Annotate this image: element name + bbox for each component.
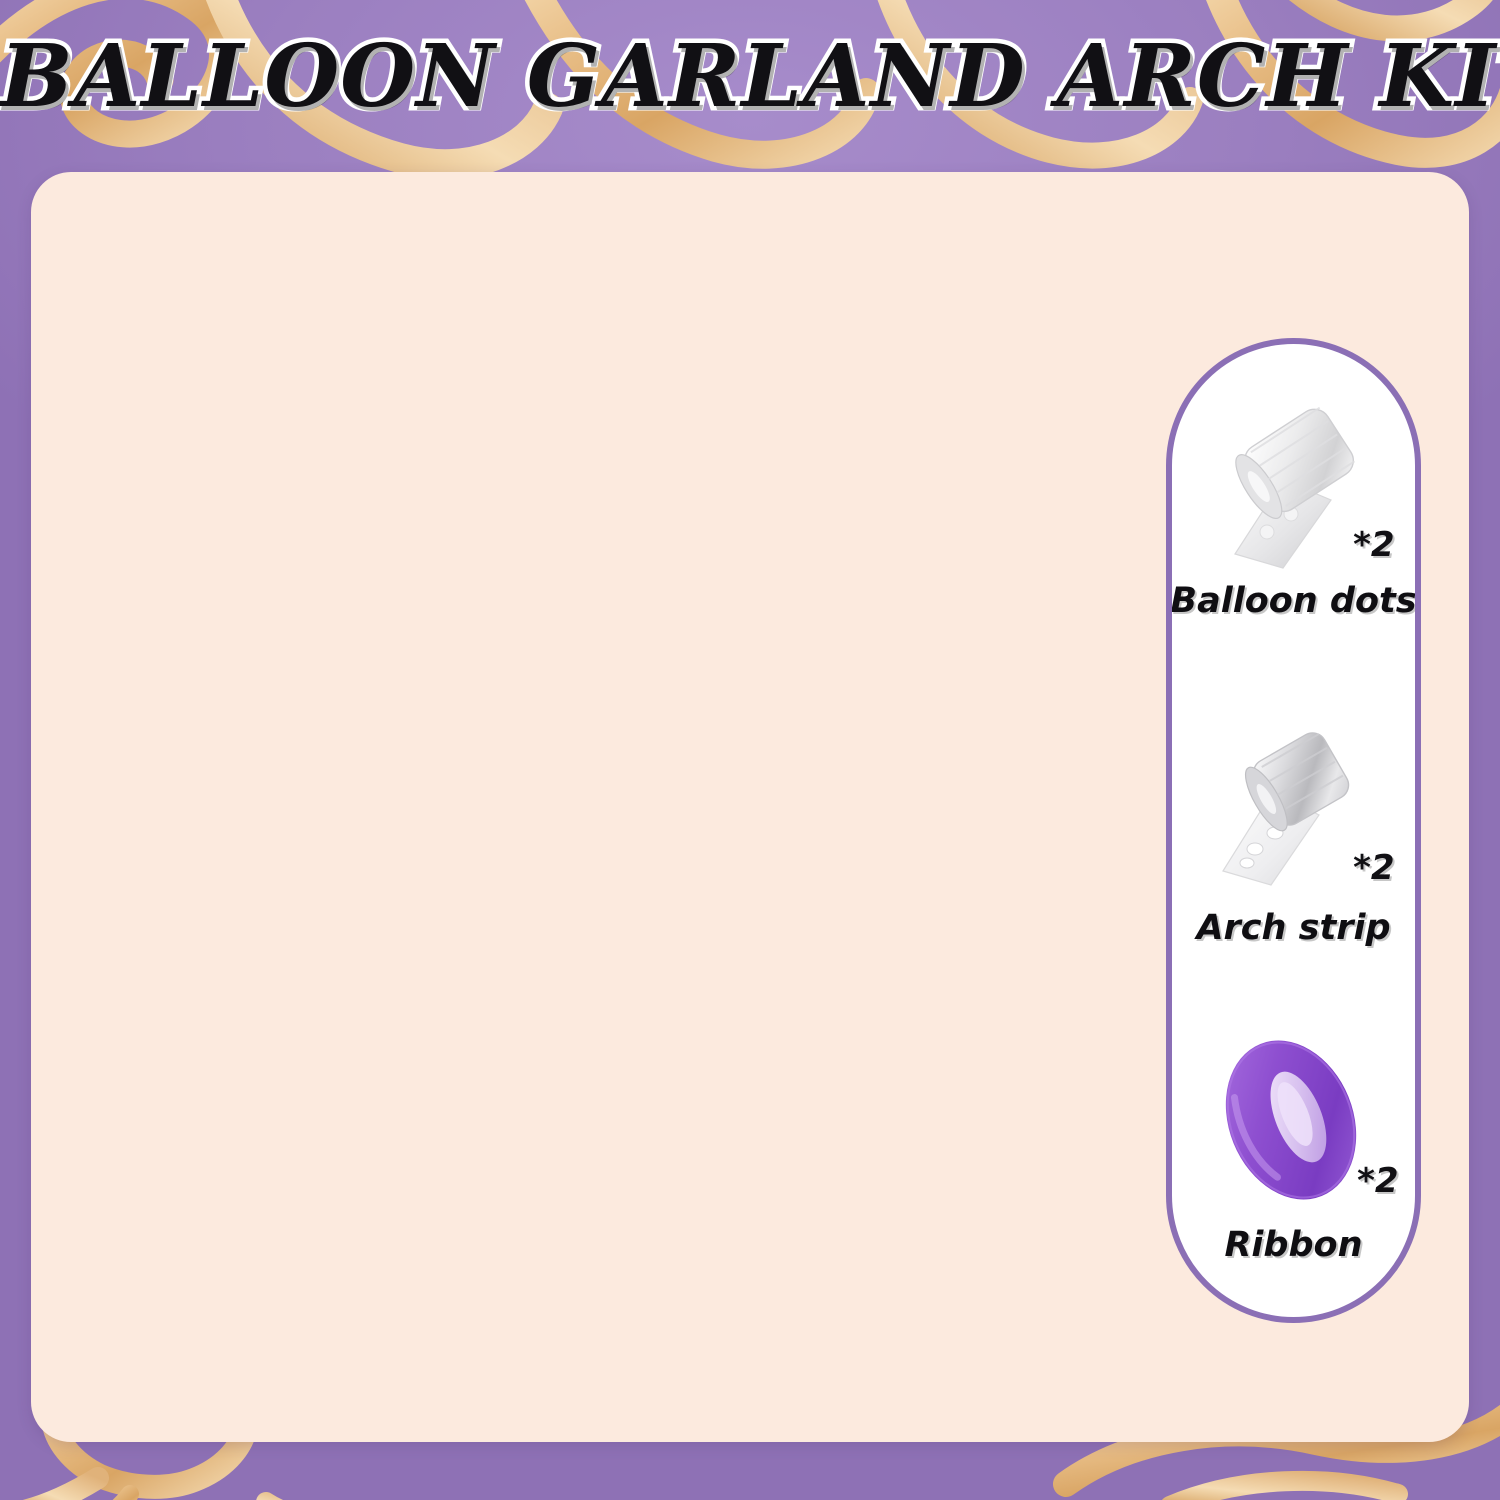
page-title: BALLOON GARLAND ARCH KIT: [0, 26, 1500, 127]
accessory-quantity: *2: [1357, 1161, 1398, 1201]
arch-strip-roll-icon: *2: [1179, 699, 1409, 914]
accessory-quantity: *2: [1353, 848, 1394, 888]
accessory-ribbon: *2 Ribbon: [1172, 1016, 1415, 1265]
ribbon-spool-icon: *2: [1179, 1016, 1409, 1231]
poster-background: BALLOON GARLAND ARCH KIT METALLIC SILVER…: [0, 0, 1500, 1500]
accessory-quantity: *2: [1353, 525, 1394, 565]
accessories-panel: *2 Balloon dots: [1166, 338, 1421, 1323]
tape-roll-icon: *2: [1179, 372, 1409, 587]
accessory-balloon-dots: *2 Balloon dots: [1172, 372, 1415, 621]
accessory-arch-strip: *2 Arch strip: [1172, 699, 1415, 948]
